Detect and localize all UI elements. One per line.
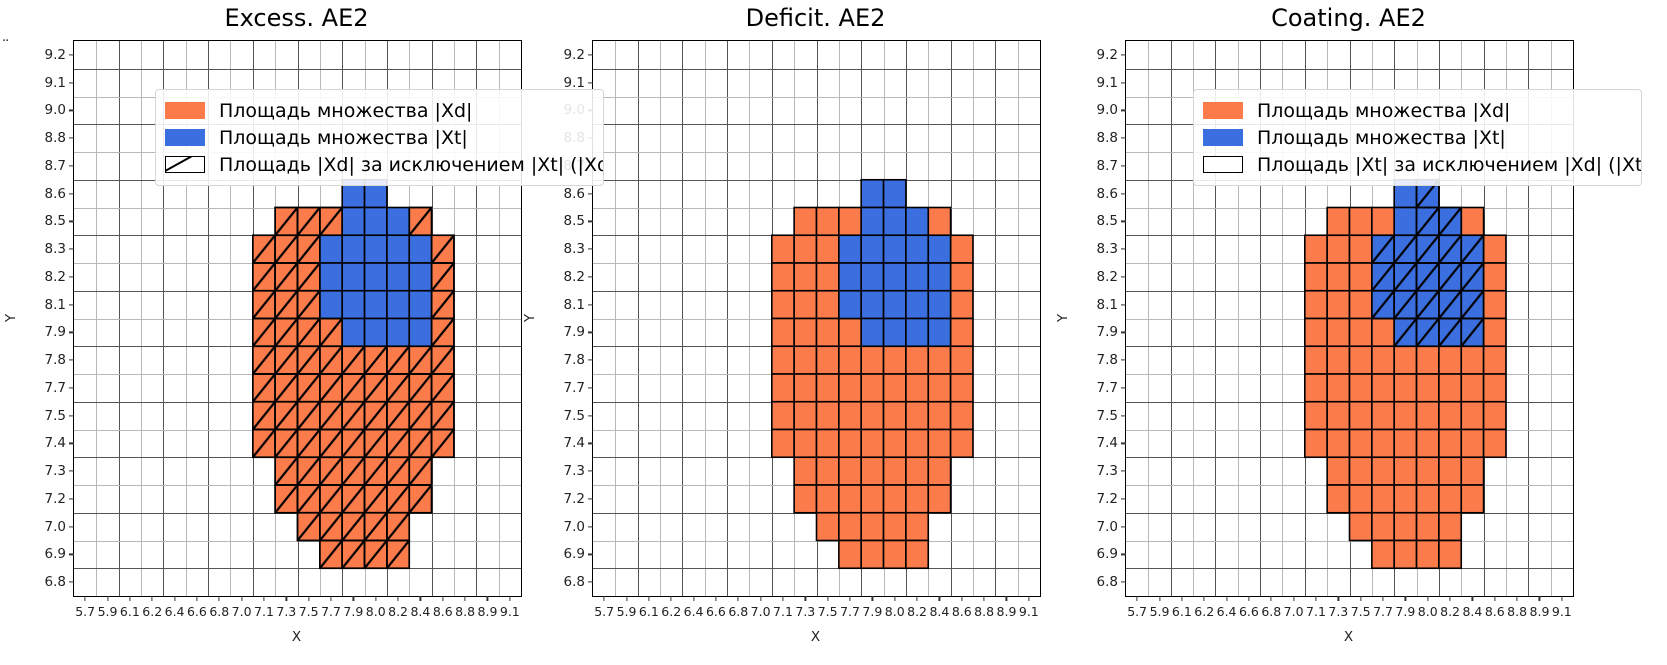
xtick-label: 8.2 (1440, 604, 1460, 619)
xtick-mark (1338, 596, 1339, 601)
xtick-mark (1204, 596, 1205, 601)
ytick-label: 9.1 (1097, 75, 1118, 91)
legend-item: Площадь |Xt| за исключением |Xd| (|Xt\Xd… (1203, 151, 1632, 178)
xtick-label: 8.2 (388, 604, 408, 619)
ytick-mark (588, 526, 593, 527)
ytick-label: 7.4 (1097, 435, 1118, 451)
ytick-label: 8.6 (1097, 186, 1118, 202)
xtick-mark (1472, 596, 1473, 601)
xtick-mark (648, 596, 649, 601)
ytick-label: 7.3 (564, 463, 585, 479)
ytick-label: 7.9 (45, 324, 66, 340)
xtick-label: 7.3 (1328, 604, 1348, 619)
xtick-mark (129, 596, 130, 601)
xtick-mark (465, 596, 466, 601)
ytick-mark (69, 387, 74, 388)
xtick-mark (671, 596, 672, 601)
xtick-mark (872, 596, 873, 601)
ytick-label: 8.8 (45, 130, 66, 146)
xtick-label: 5.9 (617, 604, 637, 619)
ytick-mark (588, 304, 593, 305)
ytick-label: 7.3 (45, 463, 66, 479)
xtick-mark (308, 596, 309, 601)
xtick-mark (1517, 596, 1518, 601)
xtick-label: 7.0 (232, 604, 252, 619)
ytick-label: 7.7 (1097, 380, 1118, 396)
xtick-label: 7.5 (818, 604, 838, 619)
xtick-mark (286, 596, 287, 601)
xtick-label: 6.2 (142, 604, 162, 619)
ytick-mark (1121, 82, 1126, 83)
xtick-mark (827, 596, 828, 601)
figure-root: .. Excess. AE2 9.29.19.08.88.78.68.58.38… (0, 0, 1667, 665)
xtick-mark (509, 596, 510, 601)
xtick-label: 6.6 (187, 604, 207, 619)
ytick-label: 8.8 (1097, 130, 1118, 146)
ytick-mark (69, 249, 74, 250)
ytick-mark (1121, 138, 1126, 139)
xtick-label: 8.6 (952, 604, 972, 619)
axis-title-x: X (1125, 629, 1572, 645)
xtick-mark (1382, 596, 1383, 601)
xtick-label: 7.7 (1373, 604, 1393, 619)
xtick-label: 7.9 (1395, 604, 1415, 619)
ytick-mark (69, 193, 74, 194)
xtick-label: 6.2 (1194, 604, 1214, 619)
ytick-label: 6.9 (564, 546, 585, 562)
xtick-label: 5.7 (1127, 604, 1147, 619)
xtick-mark (196, 596, 197, 601)
ytick-mark (69, 471, 74, 472)
xtick-mark (1360, 596, 1361, 601)
xtick-label: 8.4 (410, 604, 430, 619)
ytick-mark (69, 554, 74, 555)
ytick-mark (69, 165, 74, 166)
ytick-mark (1121, 165, 1126, 166)
ytick-label: 9.2 (45, 47, 66, 63)
xtick-mark (693, 596, 694, 601)
ytick-mark (1121, 554, 1126, 555)
ytick-label: 7.7 (45, 380, 66, 396)
xtick-label: 8.9 (997, 604, 1017, 619)
ytick-mark (1121, 54, 1126, 55)
ytick-label: 8.5 (1097, 213, 1118, 229)
legend-item-label: Площадь множества |Xd| (219, 100, 472, 122)
xtick-label: 6.2 (661, 604, 681, 619)
ytick-label: 8.1 (1097, 297, 1118, 313)
legend-item-label: Площадь множества |Xt| (219, 127, 468, 149)
ytick-mark (1121, 498, 1126, 499)
ytick-mark (1121, 276, 1126, 277)
ytick-mark (69, 498, 74, 499)
ytick-mark (588, 387, 593, 388)
xtick-mark (1494, 596, 1495, 601)
ytick-mark (1121, 193, 1126, 194)
ytick-mark (69, 526, 74, 527)
legend-excess: Площадь множества |Xd|Площадь множества … (155, 89, 604, 186)
xtick-label: 6.8 (728, 604, 748, 619)
xtick-label: 8.9 (1530, 604, 1550, 619)
ytick-mark (69, 304, 74, 305)
xtick-mark (85, 596, 86, 601)
ytick-label: 8.2 (1097, 269, 1118, 285)
ytick-mark (588, 54, 593, 55)
ytick-mark (588, 415, 593, 416)
xtick-mark (1226, 596, 1227, 601)
xtick-label: 7.1 (254, 604, 274, 619)
ytick-label: 7.5 (45, 408, 66, 424)
ytick-label: 7.5 (564, 408, 585, 424)
ytick-label: 9.1 (45, 75, 66, 91)
ytick-label: 6.9 (45, 546, 66, 562)
xtick-mark (1181, 596, 1182, 601)
axis-title-y: Y (3, 313, 19, 321)
xtick-mark (1137, 596, 1138, 601)
hatch-stroke-icon (165, 156, 198, 173)
xtick-label: 7.7 (840, 604, 860, 619)
xtick-label: 6.1 (120, 604, 140, 619)
xtick-mark (1427, 596, 1428, 601)
ytick-mark (1121, 110, 1126, 111)
xtick-mark (219, 596, 220, 601)
legend-item-label: Площадь |Xd| за исключением |Xt| (|Xd\Xt… (219, 154, 604, 176)
xtick-mark (894, 596, 895, 601)
axis-title-x: X (592, 629, 1039, 645)
ytick-mark (69, 360, 74, 361)
xtick-mark (984, 596, 985, 601)
legend-item-label: Площадь |Xt| за исключением |Xd| (|Xt\Xd… (1257, 154, 1642, 176)
legend-item: Площадь множества |Xd| (165, 97, 594, 124)
ytick-label: 9.2 (1097, 47, 1118, 63)
ytick-mark (1121, 387, 1126, 388)
xtick-label: 7.0 (751, 604, 771, 619)
ytick-label: 7.0 (45, 519, 66, 535)
ytick-mark (588, 471, 593, 472)
ytick-label: 8.6 (45, 186, 66, 202)
xtick-label: 9.1 (500, 604, 520, 619)
xtick-label: 7.9 (343, 604, 363, 619)
panel-title-excess: Excess. AE2 (33, 4, 560, 32)
ytick-label: 6.8 (564, 574, 585, 590)
xtick-mark (1159, 596, 1160, 601)
xtick-label: 8.6 (433, 604, 453, 619)
xtick-label: 7.7 (321, 604, 341, 619)
xtick-mark (1561, 596, 1562, 601)
ytick-mark (588, 443, 593, 444)
ytick-mark (69, 221, 74, 222)
xtick-mark (916, 596, 917, 601)
axis-title-y: Y (522, 313, 538, 321)
xtick-label: 8.9 (478, 604, 498, 619)
ytick-mark (69, 82, 74, 83)
ytick-mark (1121, 582, 1126, 583)
xtick-label: 6.8 (209, 604, 229, 619)
xtick-mark (174, 596, 175, 601)
xtick-mark (1539, 596, 1540, 601)
ytick-label: 7.2 (45, 491, 66, 507)
xtick-mark (1293, 596, 1294, 601)
xtick-mark (715, 596, 716, 601)
ytick-label: 8.3 (564, 241, 585, 257)
xtick-label: 7.0 (1284, 604, 1304, 619)
xtick-mark (1248, 596, 1249, 601)
corner-artifact: .. (2, 30, 8, 45)
ytick-mark (588, 582, 593, 583)
xtick-label: 9.1 (1552, 604, 1572, 619)
ytick-label: 8.7 (45, 158, 66, 174)
ytick-mark (69, 138, 74, 139)
xtick-label: 8.8 (455, 604, 475, 619)
ytick-mark (69, 110, 74, 111)
ytick-label: 8.3 (1097, 241, 1118, 257)
xtick-label: 7.1 (773, 604, 793, 619)
legend-swatch-xd (165, 102, 205, 119)
xtick-label: 6.1 (639, 604, 659, 619)
ytick-label: 8.5 (45, 213, 66, 229)
xtick-label: 8.8 (1507, 604, 1527, 619)
ytick-label: 6.8 (45, 574, 66, 590)
xtick-label: 8.6 (1485, 604, 1505, 619)
ytick-label: 7.3 (1097, 463, 1118, 479)
xtick-mark (626, 596, 627, 601)
ytick-label: 8.5 (564, 213, 585, 229)
ytick-label: 8.6 (564, 186, 585, 202)
ytick-mark (1121, 332, 1126, 333)
legend-deficit: Площадь множества |Xd|Площадь множества … (1193, 89, 1642, 186)
xtick-label: 8.0 (885, 604, 905, 619)
ytick-label: 7.8 (564, 352, 585, 368)
xtick-label: 8.0 (366, 604, 386, 619)
axis-title-y: Y (1055, 313, 1071, 321)
xtick-label: 6.8 (1261, 604, 1281, 619)
xtick-mark (330, 596, 331, 601)
xtick-mark (1006, 596, 1007, 601)
xtick-mark (604, 596, 605, 601)
ytick-label: 7.5 (1097, 408, 1118, 424)
ytick-mark (588, 332, 593, 333)
xtick-mark (397, 596, 398, 601)
ytick-label: 9.2 (564, 47, 585, 63)
tick-layer-deficit: 9.29.19.08.88.78.68.58.38.28.17.97.87.77… (593, 41, 1040, 596)
panel-title-deficit: Deficit. AE2 (552, 4, 1079, 32)
xtick-label: 6.4 (1217, 604, 1237, 619)
ytick-mark (69, 415, 74, 416)
ytick-label: 8.7 (1097, 158, 1118, 174)
ytick-label: 7.4 (45, 435, 66, 451)
panel-title-coating: Coating. AE2 (1085, 4, 1612, 32)
xtick-mark (1315, 596, 1316, 601)
xtick-label: 8.0 (1418, 604, 1438, 619)
xtick-label: 5.7 (75, 604, 95, 619)
xtick-mark (1028, 596, 1029, 601)
xtick-label: 8.4 (929, 604, 949, 619)
xtick-mark (1449, 596, 1450, 601)
xtick-label: 5.9 (98, 604, 118, 619)
xtick-mark (487, 596, 488, 601)
xtick-label: 8.4 (1462, 604, 1482, 619)
legend-swatch-hatched (165, 156, 205, 173)
ytick-label: 7.0 (564, 519, 585, 535)
xtick-label: 7.3 (795, 604, 815, 619)
ytick-label: 7.7 (564, 380, 585, 396)
ytick-label: 9.0 (45, 102, 66, 118)
xtick-label: 7.9 (862, 604, 882, 619)
ytick-label: 9.0 (1097, 102, 1118, 118)
ytick-label: 8.2 (564, 269, 585, 285)
xtick-label: 6.6 (1239, 604, 1259, 619)
axis-title-x: X (73, 629, 520, 645)
legend-swatch-xd (1203, 102, 1243, 119)
xtick-label: 6.4 (684, 604, 704, 619)
xtick-mark (107, 596, 108, 601)
xtick-mark (738, 596, 739, 601)
xtick-label: 7.5 (1351, 604, 1371, 619)
axes-excess: 9.29.19.08.88.78.68.58.38.28.17.97.87.77… (73, 40, 522, 597)
xtick-mark (152, 596, 153, 601)
xtick-mark (442, 596, 443, 601)
xtick-label: 6.6 (706, 604, 726, 619)
xtick-mark (420, 596, 421, 601)
ytick-mark (1121, 360, 1126, 361)
ytick-mark (1121, 415, 1126, 416)
ytick-mark (588, 554, 593, 555)
xtick-mark (375, 596, 376, 601)
axes-deficit: 9.29.19.08.88.78.68.58.38.28.17.97.87.77… (592, 40, 1041, 597)
legend-item: Площадь множества |Xd| (1203, 97, 1632, 124)
ytick-mark (69, 443, 74, 444)
ytick-mark (1121, 304, 1126, 305)
ytick-mark (588, 249, 593, 250)
xtick-label: 5.9 (1150, 604, 1170, 619)
xtick-label: 6.4 (165, 604, 185, 619)
xtick-label: 6.1 (1172, 604, 1192, 619)
xtick-label: 8.8 (974, 604, 994, 619)
ytick-label: 7.4 (564, 435, 585, 451)
xtick-mark (961, 596, 962, 601)
ytick-label: 8.1 (45, 297, 66, 313)
ytick-label: 7.8 (45, 352, 66, 368)
ytick-label: 6.9 (1097, 546, 1118, 562)
xtick-label: 9.1 (1019, 604, 1039, 619)
xtick-mark (1271, 596, 1272, 601)
ytick-mark (69, 582, 74, 583)
xtick-mark (241, 596, 242, 601)
xtick-mark (939, 596, 940, 601)
legend-item: Площадь множества |Xt| (165, 124, 594, 151)
ytick-mark (1121, 471, 1126, 472)
xtick-mark (805, 596, 806, 601)
ytick-label: 6.8 (1097, 574, 1118, 590)
xtick-mark (782, 596, 783, 601)
xtick-mark (849, 596, 850, 601)
ytick-label: 8.3 (45, 241, 66, 257)
ytick-mark (588, 193, 593, 194)
legend-item: Площадь |Xd| за исключением |Xt| (|Xd\Xt… (165, 151, 594, 178)
ytick-label: 8.1 (564, 297, 585, 313)
legend-item: Площадь множества |Xt| (1203, 124, 1632, 151)
ytick-label: 8.2 (45, 269, 66, 285)
ytick-mark (1121, 526, 1126, 527)
xtick-label: 7.3 (276, 604, 296, 619)
ytick-mark (1121, 443, 1126, 444)
ytick-mark (588, 221, 593, 222)
ytick-mark (588, 360, 593, 361)
xtick-label: 5.7 (594, 604, 614, 619)
ytick-mark (69, 332, 74, 333)
ytick-label: 7.2 (1097, 491, 1118, 507)
ytick-mark (588, 276, 593, 277)
xtick-label: 7.1 (1306, 604, 1326, 619)
ytick-mark (1121, 249, 1126, 250)
legend-swatch-empty (1203, 156, 1243, 173)
xtick-mark (263, 596, 264, 601)
legend-swatch-xt (1203, 129, 1243, 146)
ytick-label: 7.9 (564, 324, 585, 340)
xtick-mark (353, 596, 354, 601)
ytick-mark (588, 82, 593, 83)
ytick-label: 7.9 (1097, 324, 1118, 340)
ytick-mark (69, 276, 74, 277)
legend-item-label: Площадь множества |Xt| (1257, 127, 1506, 149)
ytick-mark (588, 498, 593, 499)
ytick-mark (1121, 221, 1126, 222)
xtick-label: 8.2 (907, 604, 927, 619)
ytick-label: 7.2 (564, 491, 585, 507)
xtick-mark (760, 596, 761, 601)
legend-item-label: Площадь множества |Xd| (1257, 100, 1510, 122)
xtick-mark (1405, 596, 1406, 601)
xtick-label: 7.5 (299, 604, 319, 619)
ytick-mark (69, 54, 74, 55)
ytick-label: 7.0 (1097, 519, 1118, 535)
legend-swatch-xt (165, 129, 205, 146)
ytick-label: 7.8 (1097, 352, 1118, 368)
